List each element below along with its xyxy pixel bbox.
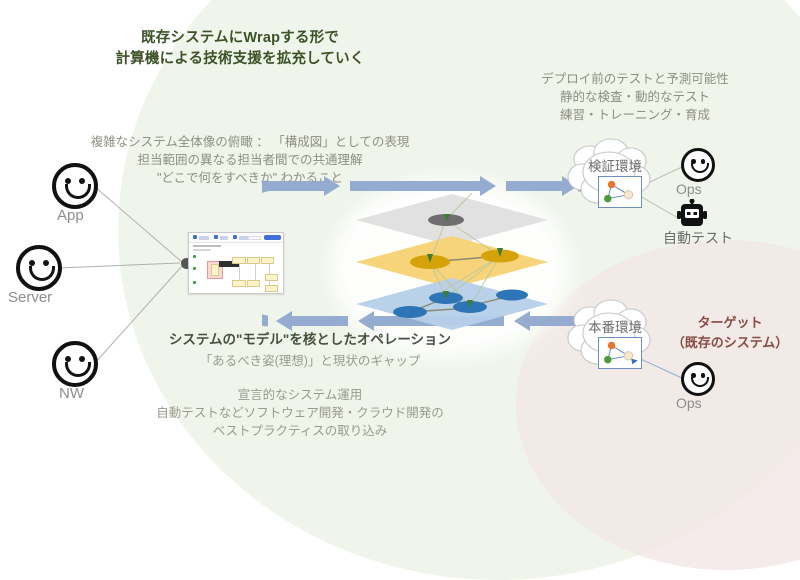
robot-icon bbox=[676, 199, 708, 229]
smiley-face-icon bbox=[681, 362, 715, 396]
dashboard-search-field bbox=[248, 236, 261, 240]
environment-label-verification: 検証環境 bbox=[588, 155, 642, 175]
environment-label-production: 本番環境 bbox=[588, 316, 642, 336]
actor-label-server: Server bbox=[8, 289, 52, 306]
top-right-note: デプロイ前のテストと予測可能性 静的な検査・動的なテスト 練習・トレーニング・育… bbox=[470, 70, 800, 124]
top-right-line-2: 静的な検査・動的なテスト bbox=[560, 90, 710, 104]
layered-model-stack-icon bbox=[350, 190, 555, 330]
bottom-list-line-3: ベストプラクティスの取り込み bbox=[213, 424, 388, 438]
actor-label-nw: NW bbox=[59, 385, 84, 402]
target-line-2: （既存のシステム） bbox=[672, 335, 789, 350]
automation-label: 自動テスト bbox=[663, 228, 733, 248]
node-graph-icon bbox=[598, 337, 642, 369]
target-line-1: ターゲット bbox=[697, 315, 762, 330]
left-mid-line-2: 担当範囲の異なる担当者間での共通理解 bbox=[137, 153, 362, 167]
node-bot-4 bbox=[496, 290, 528, 301]
smiley-face-icon bbox=[52, 163, 98, 209]
title-line-2: 計算機による技術支援を拡充していく bbox=[115, 51, 364, 67]
page-title: 既存システムにWrapする形で 計算機による技術支援を拡充していく bbox=[0, 28, 480, 70]
actor-label-app: App bbox=[57, 207, 84, 224]
bottom-list-line-2: 自動テストなどソフトウェア開発・クラウド開発の bbox=[156, 406, 444, 420]
node-bot-3 bbox=[393, 306, 427, 318]
ops-label-production: Ops bbox=[676, 395, 702, 411]
top-right-line-3: 練習・トレーニング・育成 bbox=[560, 108, 710, 122]
ops-label-verification: Ops bbox=[676, 181, 702, 197]
top-right-line-1: デプロイ前のテストと予測可能性 bbox=[541, 72, 729, 86]
target-label: ターゲット （既存のシステム） bbox=[660, 313, 800, 352]
diagram-canvas: 既存システムにWrapする形で 計算機による技術支援を拡充していく デプロイ前の… bbox=[0, 0, 800, 460]
bottom-note-list: 宣言的なシステム運用 自動テストなどソフトウェア開発・クラウド開発の ベストプラ… bbox=[90, 386, 510, 440]
node-graph-icon bbox=[598, 176, 642, 208]
smiley-face-icon bbox=[52, 341, 98, 387]
bottom-list-line-1: 宣言的なシステム運用 bbox=[238, 388, 363, 402]
title-line-1: 既存システムにWrapする形で bbox=[141, 30, 339, 46]
smiley-face-icon bbox=[681, 148, 715, 182]
bottom-note-subheading: 「あるべき姿(理想)」と現状のギャップ bbox=[110, 352, 510, 370]
smiley-face-icon bbox=[16, 245, 62, 291]
left-mid-line-1: 複雑なシステム全体像の俯瞰 ： 「構成図」としての表現 bbox=[91, 135, 410, 149]
